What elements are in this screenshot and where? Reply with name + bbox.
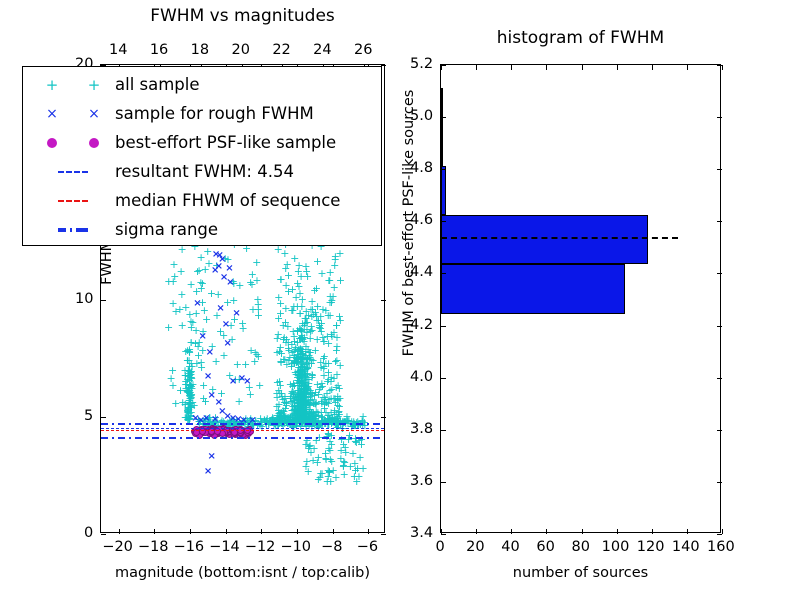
top-tick-label: 18 (191, 42, 209, 58)
y-tick-label: 5.0 (410, 108, 433, 124)
axis-tick (652, 529, 653, 534)
axis-tick (441, 117, 446, 118)
legend-label: median FHWM of sequence (115, 191, 340, 210)
x-tick-label: 0 (436, 539, 445, 555)
axis-tick (546, 529, 547, 534)
legend-item: median FHWM of sequence (31, 186, 381, 215)
axis-tick (441, 65, 446, 66)
axis-tick (717, 378, 722, 379)
y-tick-label: 5.2 (410, 56, 433, 72)
reference-line-sigma-range-upper (101, 423, 384, 425)
legend-symbol-psf-like (31, 128, 115, 157)
axis-tick (687, 529, 688, 534)
legend-symbol-sigma-range (31, 215, 115, 244)
axis-tick (582, 529, 583, 534)
axis-tick (476, 65, 477, 70)
x-tick-label: 120 (637, 539, 665, 555)
legend-item: × × sample for rough FWHM (31, 99, 381, 128)
axis-tick (441, 378, 446, 379)
legend-symbol-resultant-fwhm (31, 157, 115, 186)
axis-tick (476, 529, 477, 534)
top-tick-label: 26 (354, 42, 372, 58)
y-tick-label: 4.0 (410, 369, 433, 385)
right-plot-title: histogram of FWHM (440, 28, 721, 48)
axis-tick (441, 326, 446, 327)
x-tick-label: −18 (138, 539, 169, 555)
axis-tick (511, 65, 512, 70)
x-tick-label: 60 (536, 539, 554, 555)
axis-tick (119, 529, 120, 534)
axis-tick (261, 529, 262, 534)
x-tick-label: 160 (707, 539, 735, 555)
legend-symbol-median-fhwm (31, 186, 115, 215)
axis-tick (511, 529, 512, 534)
axis-tick (652, 65, 653, 70)
reference-line-median-fhwm-of-sequence (101, 430, 384, 431)
axis-tick (441, 482, 446, 483)
axis-tick (368, 529, 369, 534)
axis-tick (101, 534, 106, 535)
cross-marker-icon: × (46, 106, 58, 122)
y-tick-label: 0 (84, 525, 93, 541)
axis-tick (617, 529, 618, 534)
histogram-bar (441, 215, 648, 264)
dash-dot-line-icon (58, 228, 88, 232)
legend-symbol-rough-fwhm: × × (31, 99, 115, 128)
axis-tick (717, 221, 722, 222)
legend-label: sigma range (115, 220, 218, 239)
x-tick-label: 140 (672, 539, 700, 555)
plus-marker-icon: + (46, 76, 59, 94)
dashed-line-icon (58, 171, 88, 173)
x-tick-label: −16 (174, 539, 205, 555)
axis-tick (717, 430, 722, 431)
axis-tick (226, 529, 227, 534)
x-tick-label: −12 (245, 539, 276, 555)
left-x-axis-label: magnitude (bottom:isnt / top:calib) (80, 565, 405, 581)
axis-tick (441, 273, 446, 274)
axis-tick (441, 430, 446, 431)
histogram-bar (441, 88, 443, 116)
axis-tick (101, 417, 106, 418)
cross-marker-icon: × (88, 106, 100, 122)
dashed-line-icon (58, 200, 88, 202)
figure-canvas: FWHM vs magnitudes +++++++++++++++++++++… (0, 0, 800, 600)
histogram-reference-line (441, 237, 678, 239)
x-tick-label: −6 (357, 539, 378, 555)
y-tick-label: 3.6 (410, 473, 433, 489)
x-tick-label: 80 (572, 539, 590, 555)
x-tick-label: −8 (321, 539, 342, 555)
axis-tick (717, 117, 722, 118)
legend-label: resultant FWHM: 4.54 (115, 162, 294, 181)
axis-tick (717, 534, 722, 535)
x-tick-label: −14 (209, 539, 240, 555)
x-tick-label: −20 (102, 539, 133, 555)
axis-tick (617, 65, 618, 70)
top-tick-label: 20 (232, 42, 250, 58)
axis-tick (717, 169, 722, 170)
axis-tick (381, 534, 386, 535)
histogram-bar (441, 264, 625, 313)
axis-tick (717, 326, 722, 327)
legend-symbol-all-sample: + + (31, 70, 115, 99)
axis-tick (546, 65, 547, 70)
x-tick-label: 40 (501, 539, 519, 555)
histogram-bar (441, 166, 446, 215)
y-tick-label: 3.4 (410, 525, 433, 541)
axis-tick (441, 169, 446, 170)
circle-marker-icon (89, 138, 99, 148)
y-tick-label: 4.6 (410, 212, 433, 228)
circle-marker-icon (47, 138, 57, 148)
right-x-axis-label: number of sources (440, 565, 721, 581)
legend-item: + + all sample (31, 70, 381, 99)
axis-tick (722, 529, 723, 534)
y-tick-label: 4.8 (410, 160, 433, 176)
axis-tick (154, 529, 155, 534)
x-tick-label: 20 (466, 539, 484, 555)
axis-tick (297, 529, 298, 534)
axis-tick (717, 273, 722, 274)
axis-tick (381, 417, 386, 418)
axis-tick (717, 65, 722, 66)
legend-item: resultant FWHM: 4.54 (31, 157, 381, 186)
legend-item: sigma range (31, 215, 381, 244)
top-tick-label: 22 (272, 42, 290, 58)
reference-line-sigma-range-lower (101, 437, 384, 439)
axis-tick (381, 300, 386, 301)
axis-tick (190, 529, 191, 534)
top-tick-label: 24 (313, 42, 331, 58)
x-tick-label: −10 (280, 539, 311, 555)
legend-item: best-effort PSF-like sample (31, 128, 381, 157)
y-tick-label: 4.2 (410, 317, 433, 333)
legend-label: sample for rough FWHM (115, 104, 314, 123)
top-tick-label: 14 (109, 42, 127, 58)
axis-tick (441, 221, 446, 222)
histogram-axes: FWHM of best-effort PSF-like sources (440, 64, 721, 533)
y-tick-label: 5 (84, 408, 93, 424)
axis-tick (582, 65, 583, 70)
histogram-bar (441, 116, 443, 165)
legend-box: + + all sample × × sample for rough FWHM… (22, 66, 382, 246)
reference-line-resultant-fwhm (101, 428, 384, 429)
axis-tick (441, 534, 446, 535)
histogram-bar-layer (441, 65, 720, 532)
axis-tick (717, 482, 722, 483)
axis-tick (333, 529, 334, 534)
legend-label: all sample (115, 75, 200, 94)
axis-tick (687, 65, 688, 70)
x-tick-label: 100 (602, 539, 630, 555)
y-tick-label: 4.4 (410, 264, 433, 280)
left-plot-title: FWHM vs magnitudes (100, 6, 385, 26)
y-tick-label: 10 (75, 291, 93, 307)
axis-tick (722, 65, 723, 70)
y-tick-label: 3.8 (410, 421, 433, 437)
plus-marker-icon: + (88, 76, 101, 94)
legend-label: best-effort PSF-like sample (115, 133, 336, 152)
top-tick-label: 16 (150, 42, 168, 58)
